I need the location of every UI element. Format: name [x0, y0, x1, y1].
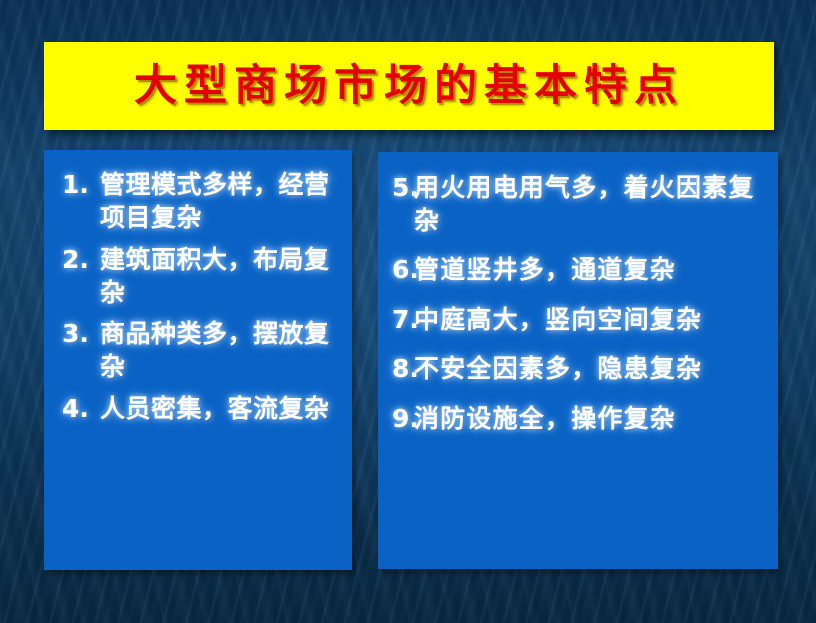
list-item: 8. 不安全因素多，隐患复杂	[384, 353, 772, 386]
list-item: 1. 管理模式多样，经营项目复杂	[54, 168, 342, 235]
page-title: 大型商场市场的基本特点	[134, 65, 684, 108]
right-content-panel: 5. 用火用电用气多，着火因素复杂 6. 管道竖井多，通道复杂 7. 中庭高大，…	[378, 152, 778, 569]
list-item: 9. 消防设施全，操作复杂	[384, 403, 772, 436]
item-number: 3.	[62, 317, 100, 350]
left-content-panel: 1. 管理模式多样，经营项目复杂 2. 建筑面积大，布局复杂 3. 商品种类多，…	[44, 150, 352, 570]
item-text: 管道竖井多，通道复杂	[414, 254, 772, 287]
list-item: 3. 商品种类多，摆放复杂	[54, 317, 342, 384]
list-item: 4. 人员密集，客流复杂	[54, 392, 342, 425]
item-text: 消防设施全，操作复杂	[414, 403, 772, 436]
item-text: 人员密集，客流复杂	[100, 392, 342, 425]
item-text: 不安全因素多，隐患复杂	[414, 353, 772, 386]
list-item: 7. 中庭高大，竖向空间复杂	[384, 304, 772, 337]
item-number: 1.	[62, 168, 100, 201]
item-number: 9.	[392, 403, 414, 436]
item-text: 商品种类多，摆放复杂	[100, 317, 342, 384]
item-text: 用火用电用气多，着火因素复杂	[414, 172, 772, 237]
item-text: 管理模式多样，经营项目复杂	[100, 168, 342, 235]
slide-canvas: 大型商场市场的基本特点 1. 管理模式多样，经营项目复杂 2. 建筑面积大，布局…	[0, 0, 816, 623]
list-item: 5. 用火用电用气多，着火因素复杂	[384, 172, 772, 237]
item-text: 建筑面积大，布局复杂	[100, 243, 342, 310]
item-number: 8.	[392, 353, 414, 386]
list-item: 6. 管道竖井多，通道复杂	[384, 254, 772, 287]
title-banner: 大型商场市场的基本特点	[44, 42, 774, 130]
right-item-list: 5. 用火用电用气多，着火因素复杂 6. 管道竖井多，通道复杂 7. 中庭高大，…	[384, 172, 772, 435]
item-number: 2.	[62, 243, 100, 276]
item-number: 6.	[392, 254, 414, 287]
item-text: 中庭高大，竖向空间复杂	[414, 304, 772, 337]
left-item-list: 1. 管理模式多样，经营项目复杂 2. 建筑面积大，布局复杂 3. 商品种类多，…	[54, 168, 342, 425]
item-number: 5.	[392, 172, 414, 205]
item-number: 4.	[62, 392, 100, 425]
item-number: 7.	[392, 304, 414, 337]
list-item: 2. 建筑面积大，布局复杂	[54, 243, 342, 310]
